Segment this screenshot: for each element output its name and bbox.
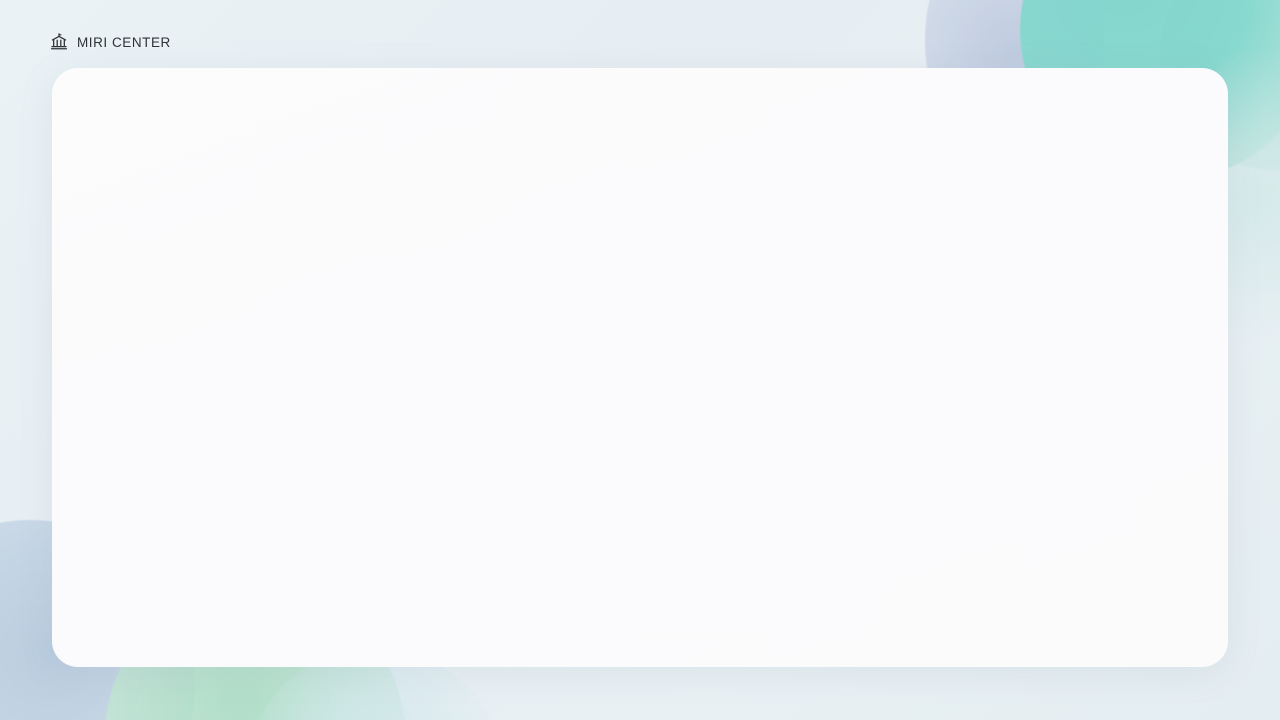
brand-header[interactable]: MIRI CENTER bbox=[50, 33, 171, 51]
brand-name-label: MIRI CENTER bbox=[77, 35, 171, 50]
slide-card bbox=[52, 68, 1228, 667]
bank-building-icon bbox=[50, 33, 68, 51]
